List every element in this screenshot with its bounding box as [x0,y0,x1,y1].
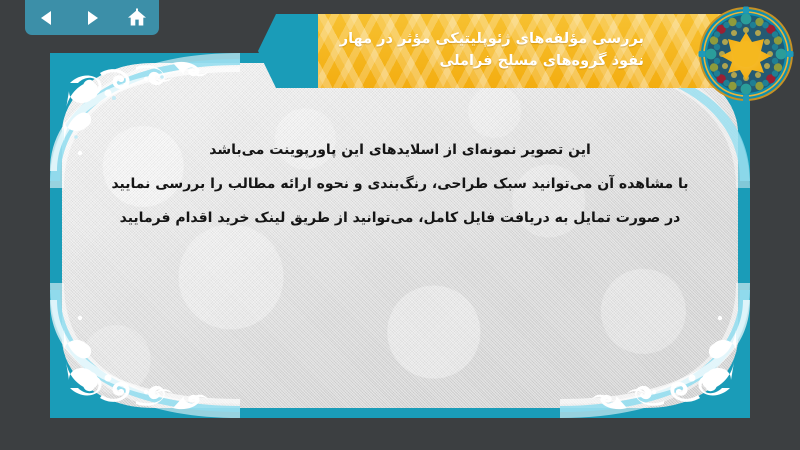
presentation-slide: این تصویر نمونه‌ای از اسلایدهای این پاور… [50,53,750,418]
slide-body-text: این تصویر نمونه‌ای از اسلایدهای این پاور… [50,133,750,235]
triangle-left-icon [38,9,56,27]
previous-slide-button[interactable] [30,3,64,33]
body-line-3: در صورت تمایل به دریافت فایل کامل، می‌تو… [50,201,750,235]
title-line-1: بررسی مؤلفه‌های ژئوپلیتیکی مؤثر در مهار [258,29,644,51]
slide-navigation-bar [25,0,159,35]
next-slide-button[interactable] [75,3,109,33]
body-line-2: با مشاهده آن می‌توانید سبک طراحی، رنگ‌بن… [50,167,750,201]
body-line-1: این تصویر نمونه‌ای از اسلایدهای این پاور… [50,133,750,167]
persian-medallion-ornament [698,6,794,102]
home-button[interactable] [120,3,154,33]
page-title: بررسی مؤلفه‌های ژئوپلیتیکی مؤثر در مهار … [258,29,728,73]
slide-viewer: این تصویر نمونه‌ای از اسلایدهای این پاور… [0,0,800,450]
title-line-2: نفوذ گروه‌های مسلح فراملی [258,51,644,73]
slide-content-panel [62,63,738,408]
triangle-right-icon [83,9,101,27]
slide-title-banner: بررسی مؤلفه‌های ژئوپلیتیکی مؤثر در مهار … [258,14,728,88]
home-icon [127,8,147,27]
slide-inner-area: این تصویر نمونه‌ای از اسلایدهای این پاور… [50,53,750,418]
